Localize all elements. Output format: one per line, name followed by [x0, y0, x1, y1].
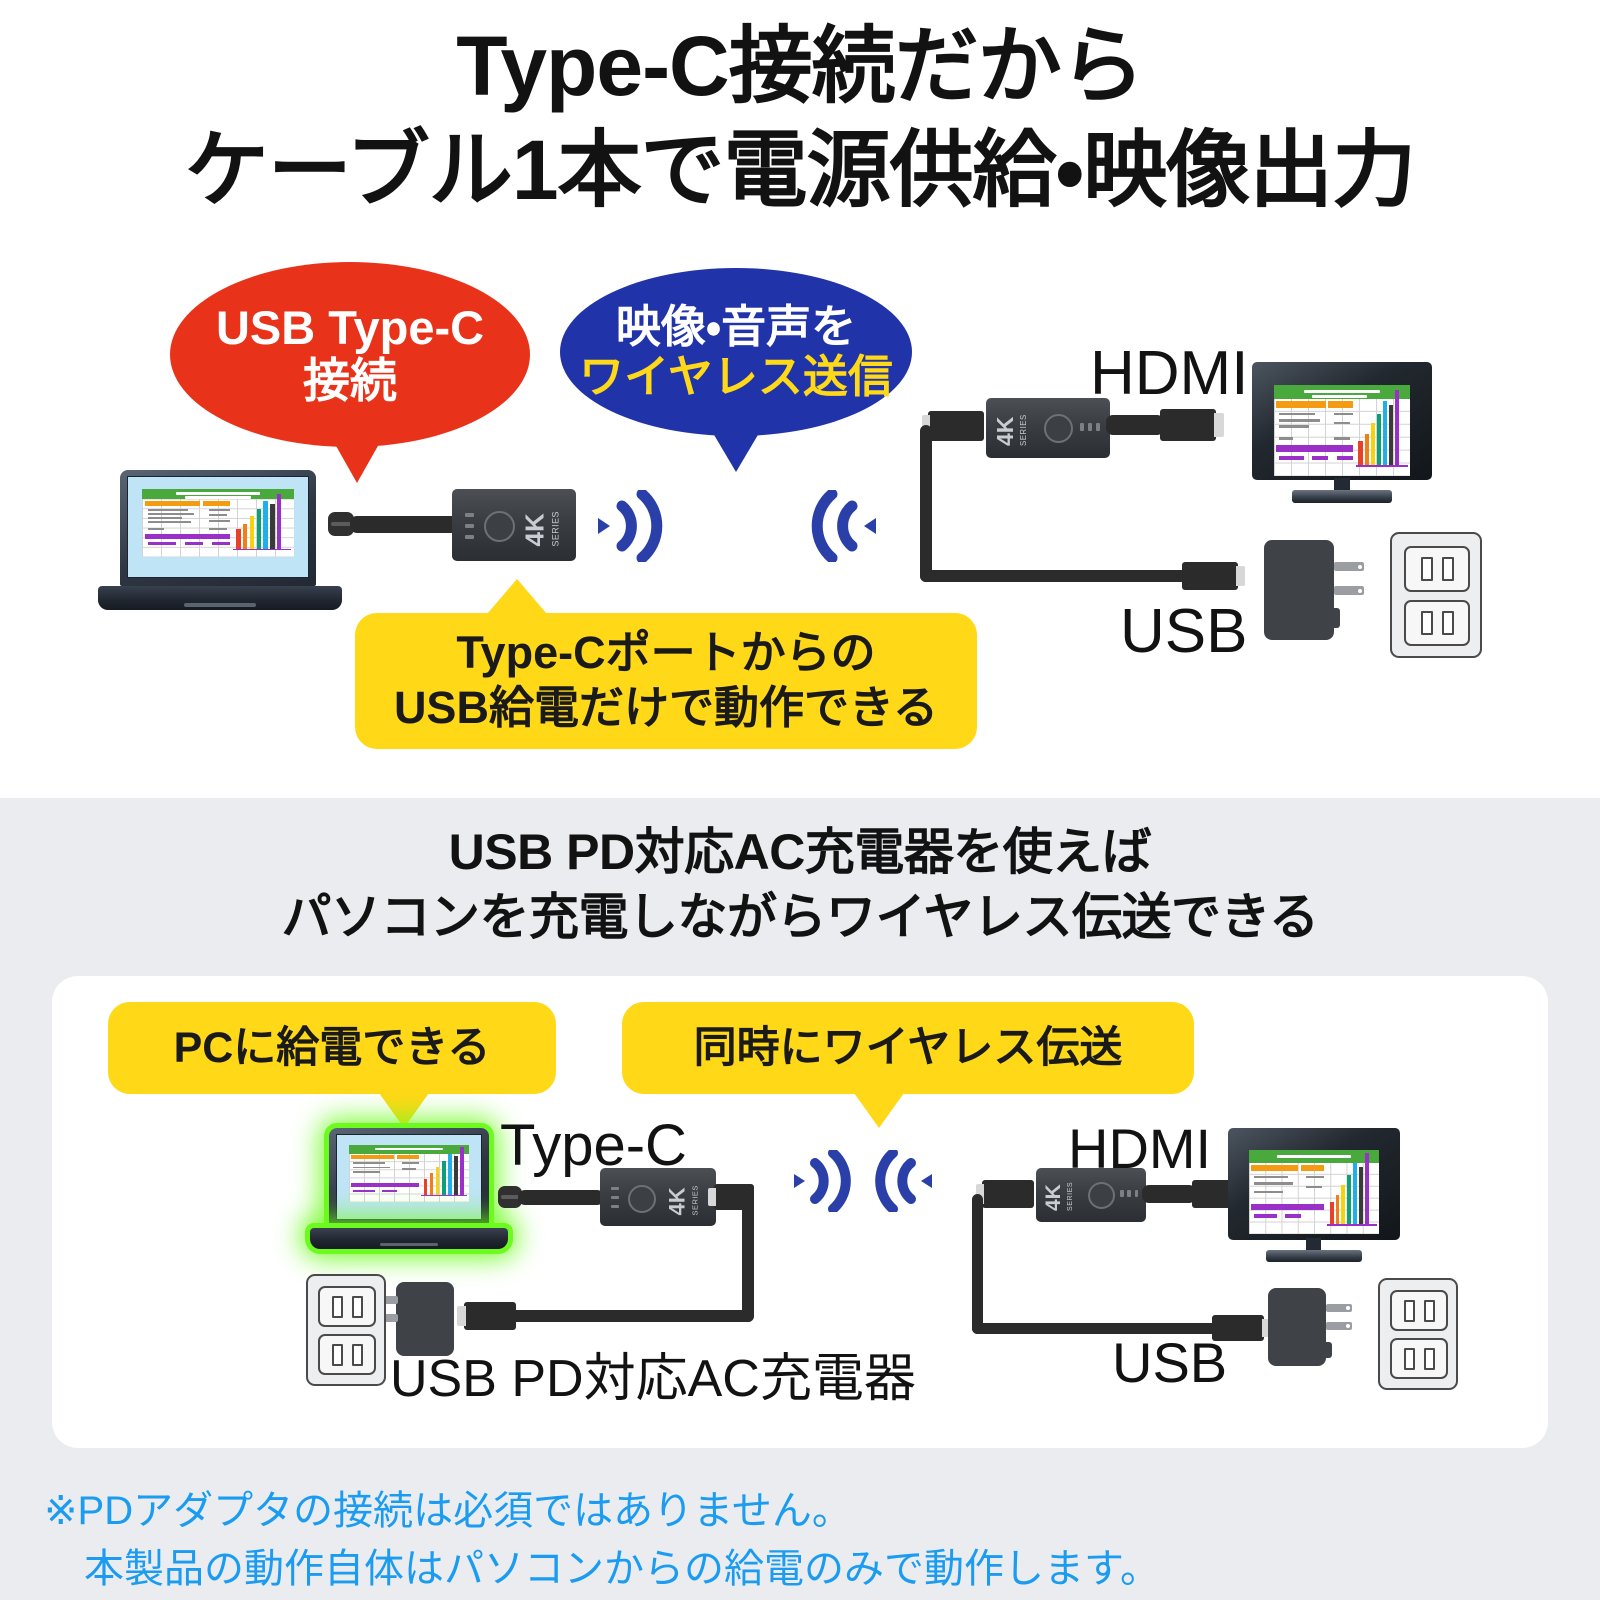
- bubble-typec-port-line1: Type-Cポートからの: [394, 626, 938, 681]
- spreadsheet-artwork: [1274, 385, 1411, 476]
- wireless-dongle-icon: 4K SERIES: [986, 398, 1110, 458]
- hdmi-connector-icon: [928, 411, 984, 441]
- usb-c-cable: [350, 516, 458, 533]
- dongle-model-label: 4K: [1042, 1184, 1065, 1211]
- bubble-typec-port-power: Type-Cポートからの USB給電だけで動作できる: [355, 613, 977, 749]
- label-ac-pd-charger: USB PD対応AC充電器: [390, 1336, 916, 1411]
- wireless-dongle-icon: 4K SERIES: [600, 1168, 716, 1226]
- dongle-model-label: 4K: [992, 417, 1018, 446]
- bubble-simultaneous-wireless: 同時にワイヤレス伝送: [622, 1002, 1194, 1094]
- spreadsheet-artwork: [1249, 1150, 1380, 1234]
- dongle-model-sub: SERIES: [1019, 418, 1028, 446]
- bubble-wireless-line2: ワイヤレス送信: [579, 352, 893, 402]
- dongle-model-label: 4K: [665, 1187, 690, 1215]
- bubble-usb-typec: USB Type-C 接続: [170, 262, 530, 447]
- wifi-signal-icon: [802, 490, 886, 567]
- television-icon: [1252, 362, 1432, 508]
- usb-power-cable: [972, 1194, 983, 1334]
- bubble-wireless-line1: 映像・音声を: [579, 302, 893, 352]
- wifi-signal-icon: [588, 490, 672, 567]
- ac-adapter-icon: [1264, 540, 1368, 640]
- page-title: Type-C接続だから ケーブル1本で電源供給・映像出力: [0, 14, 1600, 222]
- usb-c-cable: [518, 1190, 604, 1205]
- bubble-tail: [487, 579, 547, 614]
- wall-outlet-icon: [306, 1274, 386, 1386]
- bubble-typec-port-line2: USB給電だけで動作できる: [394, 681, 938, 736]
- pd-power-cable: [742, 1196, 754, 1322]
- bubble-usb-typec-line2: 接続: [216, 355, 484, 408]
- bubble-pc-power-label: PCに給電できる: [174, 1022, 491, 1074]
- dongle-model-sub: SERIES: [551, 517, 561, 547]
- laptop-icon: [98, 470, 342, 618]
- wall-outlet-icon: [1390, 532, 1482, 658]
- bubble-simultaneous-label: 同時にワイヤレス伝送: [694, 1022, 1123, 1074]
- bubble-usb-typec-line1: USB Type-C: [216, 302, 484, 355]
- laptop-icon: [310, 1128, 508, 1258]
- usb-connector-icon: [1182, 562, 1238, 590]
- usb-power-cable: [920, 570, 1194, 582]
- hdmi-connector-icon: [1160, 409, 1216, 441]
- bubble-pc-power: PCに給電できる: [108, 1002, 556, 1094]
- hdmi-connector-icon: [982, 1180, 1034, 1208]
- wifi-signal-icon: [786, 1150, 858, 1217]
- bubble-tail: [710, 428, 762, 472]
- label-usb: USB: [1120, 596, 1247, 667]
- section-two-heading: USB PD対応AC充電器を使えば パソコンを充電しながらワイヤレス伝送できる: [0, 820, 1600, 950]
- wireless-dongle-icon: 4K SERIES: [1036, 1168, 1146, 1222]
- wall-outlet-icon: [1378, 1278, 1458, 1390]
- television-icon: [1228, 1128, 1400, 1268]
- hdmi-cable: [1106, 415, 1164, 435]
- wifi-signal-icon: [868, 1150, 940, 1217]
- bubble-tail: [379, 1093, 429, 1128]
- dongle-model-label: 4K: [520, 513, 550, 546]
- wireless-dongle-icon: 4K SERIES: [452, 489, 576, 561]
- bubble-tail: [854, 1093, 904, 1128]
- label-usb: USB: [1112, 1330, 1227, 1395]
- footnote-text: ※PDアダプタの接続は必須ではありません。 本製品の動作自体はパソコンからの給電…: [44, 1482, 1444, 1598]
- dongle-model-sub: SERIES: [1066, 1185, 1074, 1211]
- usb-power-cable: [920, 425, 932, 582]
- ac-adapter-icon: [1268, 1288, 1364, 1366]
- spreadsheet-artwork: [349, 1145, 470, 1202]
- label-hdmi: HDMI: [1090, 338, 1248, 409]
- spreadsheet-artwork: [142, 489, 293, 557]
- hdmi-cable: [1142, 1185, 1196, 1203]
- dongle-model-sub: SERIES: [691, 1188, 700, 1216]
- bubble-wireless-transmit: 映像・音声を ワイヤレス送信: [560, 268, 912, 436]
